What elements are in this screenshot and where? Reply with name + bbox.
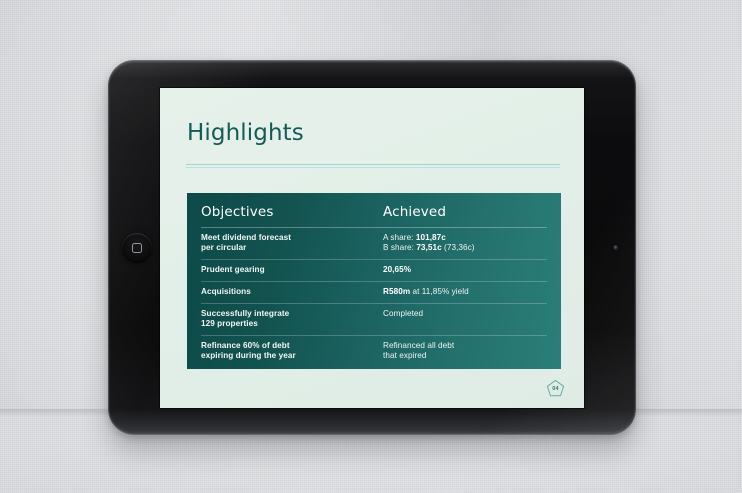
- table-row: Successfully integrate129 propertiesComp…: [201, 304, 547, 336]
- front-camera-icon: [613, 245, 619, 251]
- objective-cell: Refinance 60% of debtexpiring during the…: [201, 341, 383, 362]
- achieved-cell: 20,65%: [383, 265, 547, 275]
- objective-cell: Prudent gearing: [201, 265, 383, 275]
- objective-cell: Successfully integrate129 properties: [201, 309, 383, 330]
- table-row: AcquisitionsR580m at 11,85% yield: [201, 282, 547, 304]
- table-header-row: Objectives Achieved: [201, 204, 547, 228]
- objective-cell: Meet dividend forecastper circular: [201, 233, 383, 254]
- page-title: Highlights: [187, 120, 304, 146]
- achieved-cell: A share: 101,87cB share: 73,51c (73,36c): [383, 233, 547, 254]
- achieved-cell: R580m at 11,85% yield: [383, 287, 547, 297]
- table-row: Meet dividend forecastper circularA shar…: [201, 228, 547, 260]
- presentation-slide: Highlights Objectives Achieved Meet divi…: [160, 88, 584, 408]
- page-number-text: 04: [552, 386, 559, 392]
- column-header-achieved: Achieved: [383, 204, 547, 220]
- tablet-device: Highlights Objectives Achieved Meet divi…: [108, 60, 636, 435]
- table-row: Prudent gearing20,65%: [201, 260, 547, 282]
- title-divider: [186, 164, 560, 168]
- table-row: Refinance 60% of debtexpiring during the…: [201, 336, 547, 367]
- home-button-square-glyph: [132, 243, 142, 253]
- achieved-cell: Refinanced all debtthat expired: [383, 341, 547, 362]
- home-button-icon[interactable]: [122, 233, 152, 263]
- tablet-screen[interactable]: Highlights Objectives Achieved Meet divi…: [160, 88, 584, 408]
- table-body: Meet dividend forecastper circularA shar…: [201, 228, 547, 366]
- highlights-table: Objectives Achieved Meet dividend foreca…: [187, 193, 561, 369]
- page-number-badge: 04: [546, 379, 565, 398]
- column-header-objectives: Objectives: [201, 204, 383, 220]
- achieved-cell: Completed: [383, 309, 547, 319]
- objective-cell: Acquisitions: [201, 287, 383, 297]
